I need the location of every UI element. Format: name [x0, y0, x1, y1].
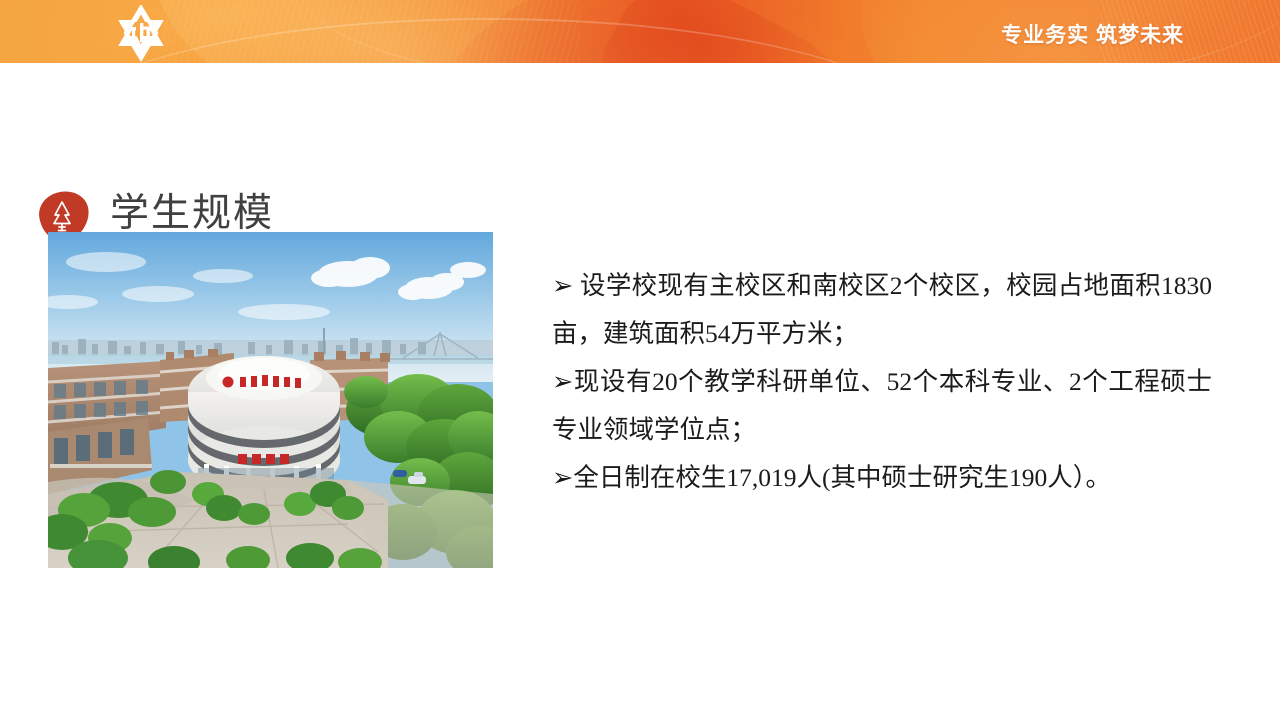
banner-stripe-decor	[160, 0, 580, 63]
bullet-line-3: ➢全日制在校生17,019人(其中硕士研究生190人）。	[552, 454, 1212, 502]
hexagram-star-logo-icon	[110, 5, 172, 63]
banner-tagline: 专业务实 筑梦未来	[1001, 19, 1184, 49]
banner-swirl-decor	[407, 0, 884, 63]
slide-title-row: 学生规模	[0, 92, 1280, 154]
banner-swirl-decor	[578, 0, 883, 63]
campus-aerial-photo	[48, 232, 493, 568]
banner-swirl-decor	[0, 0, 601, 63]
top-banner: 专业务实 筑梦未来	[0, 0, 1280, 63]
banner-swirl-decor	[129, 0, 791, 63]
banner-arc-decor	[40, 18, 940, 63]
content-body: ➢ 设学校现有主校区和南校区2个校区，校园占地面积1830亩，建筑面积54万平方…	[552, 262, 1212, 502]
bullet-line-2: ➢现设有20个教学科研单位、52个本科专业、2个工程硕士专业领域学位点；	[552, 358, 1212, 454]
bullet-line-1: ➢ 设学校现有主校区和南校区2个校区，校园占地面积1830亩，建筑面积54万平方…	[552, 262, 1212, 358]
